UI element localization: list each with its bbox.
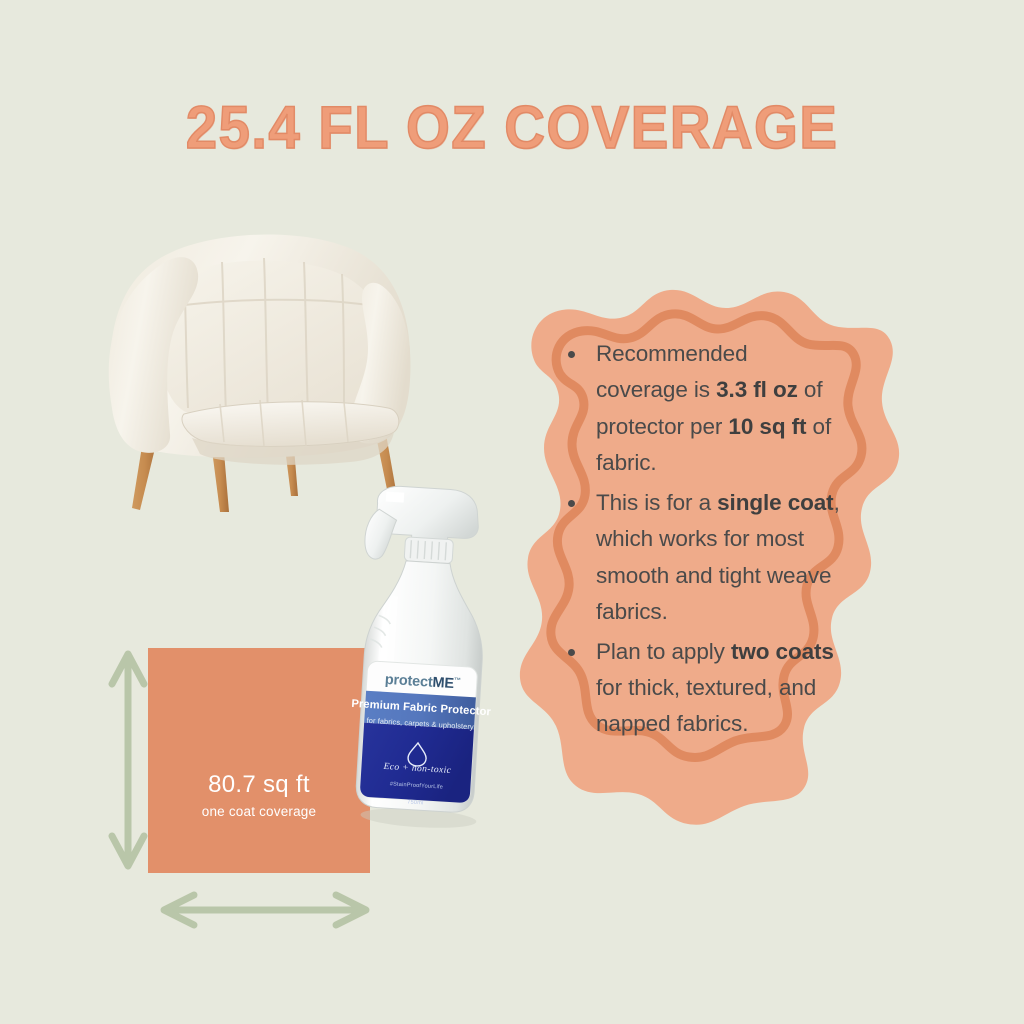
armchair-image	[88, 212, 428, 512]
coverage-area-value: 80.7 sq ft	[208, 772, 310, 798]
bullet-dot	[568, 351, 575, 358]
bullet-dot	[568, 500, 575, 507]
chair-seat	[182, 402, 399, 447]
list-item: This is for a single coat, which works f…	[594, 485, 842, 631]
page-title: 25.4 FL OZ COVERAGE	[31, 98, 994, 158]
bottle-collar	[404, 537, 453, 564]
bottle-label-band	[364, 691, 476, 730]
double-arrow-horizontal-icon	[150, 885, 380, 935]
list-item: Plan to apply two coats for thick, textu…	[594, 634, 842, 743]
bottle-label-panel	[360, 723, 474, 804]
info-card: Recommended coverage is 3.3 fl oz of pro…	[506, 268, 906, 836]
bullet-dot	[568, 649, 575, 656]
list-item: Recommended coverage is 3.3 fl oz of pro…	[594, 336, 842, 482]
coverage-bullet-list: Recommended coverage is 3.3 fl oz of pro…	[594, 336, 842, 746]
spray-bottle-image: protectME™ Premium Fabric Protector for …	[326, 473, 523, 835]
coverage-area-caption: one coat coverage	[202, 804, 316, 819]
